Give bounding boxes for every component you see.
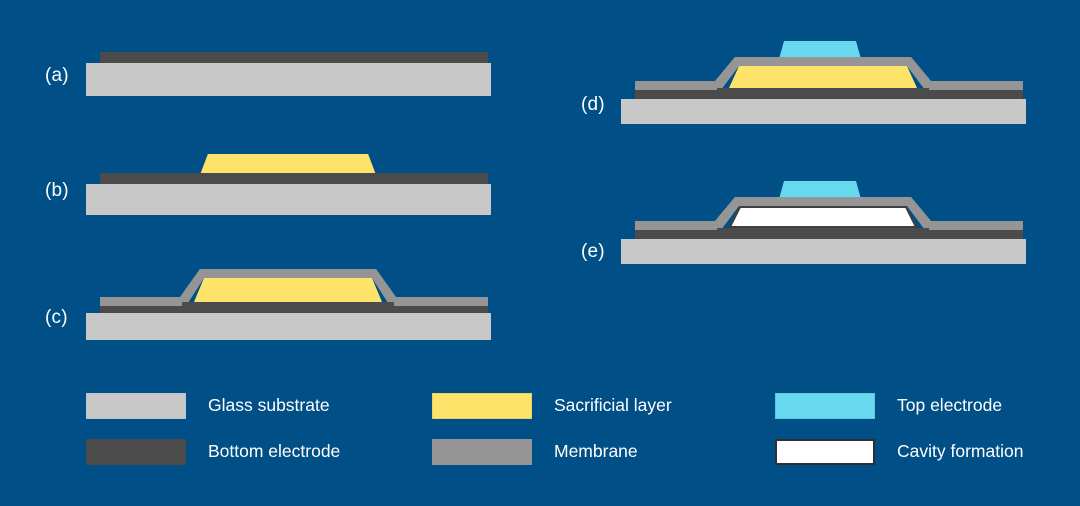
glass-substrate-layer [86, 63, 491, 96]
glass-substrate-layer [86, 184, 491, 215]
sacrificial-layer-visible [201, 154, 375, 173]
membrane-flange-left [635, 81, 717, 90]
legend-item-bottom-electrode: Bottom electrode [86, 437, 340, 467]
membrane-flange-right [929, 81, 1023, 90]
panel-label-b: (b) [45, 181, 69, 200]
panel-e [575, 172, 1045, 264]
top-electrode-trapezoid [779, 41, 861, 59]
legend-item-membrane: Membrane [432, 437, 638, 467]
panel-label-c: (c) [45, 308, 68, 327]
panel-d-cross-section [575, 32, 1045, 124]
legend: Glass substrate Bottom electrode Sacrifi… [0, 382, 1080, 478]
sacrificial-layer-trapezoid [194, 278, 382, 302]
legend-column-3: Top electrode Cavity formation [775, 382, 1080, 478]
panel-b-cross-section [40, 140, 510, 215]
membrane-flange-left [100, 297, 182, 306]
legend-swatch-glass-substrate [86, 393, 186, 419]
panel-a-cross-section [40, 40, 510, 100]
membrane-flange-right [929, 221, 1023, 230]
membrane-flange-left [635, 221, 717, 230]
legend-swatch-bottom-electrode [86, 439, 186, 465]
legend-swatch-sacrificial-layer [432, 393, 532, 419]
membrane-top-plateau [200, 269, 376, 278]
membrane-flange-right [394, 297, 488, 306]
legend-label-cavity-formation: Cavity formation [897, 443, 1023, 461]
panel-label-d: (d) [581, 95, 605, 114]
legend-item-top-electrode: Top electrode [775, 391, 1002, 421]
panel-c [40, 255, 510, 340]
membrane-top-plateau [735, 197, 911, 206]
glass-substrate-layer [86, 313, 491, 340]
legend-label-bottom-electrode: Bottom electrode [208, 443, 340, 461]
legend-swatch-membrane [432, 439, 532, 465]
bottom-electrode-layer [100, 173, 488, 184]
legend-item-cavity-formation: Cavity formation [775, 437, 1023, 467]
sacrificial-layer-trapezoid [729, 66, 917, 88]
cavity-formation-void [730, 207, 916, 227]
panel-label-e: (e) [581, 242, 605, 261]
panel-label-a: (a) [45, 66, 69, 85]
glass-substrate-layer [621, 239, 1026, 264]
glass-substrate-layer [621, 99, 1026, 124]
legend-column-1: Glass substrate Bottom electrode [86, 382, 416, 478]
legend-item-glass-substrate: Glass substrate [86, 391, 330, 421]
membrane-top-plateau [735, 57, 911, 66]
process-flow-figure: (a) (b) (c) [0, 0, 1080, 506]
panel-a [40, 40, 510, 100]
legend-label-sacrificial-layer: Sacrificial layer [554, 397, 672, 415]
legend-swatch-cavity-formation [775, 439, 875, 465]
legend-item-sacrificial-layer: Sacrificial layer [432, 391, 672, 421]
legend-column-2: Sacrificial layer Membrane [432, 382, 762, 478]
bottom-electrode-layer [100, 52, 488, 63]
legend-swatch-top-electrode [775, 393, 875, 419]
panel-e-cross-section [575, 172, 1045, 264]
legend-label-glass-substrate: Glass substrate [208, 397, 330, 415]
panel-d [575, 32, 1045, 124]
legend-label-top-electrode: Top electrode [897, 397, 1002, 415]
top-electrode-trapezoid [779, 181, 861, 199]
legend-label-membrane: Membrane [554, 443, 638, 461]
panel-c-cross-section [40, 255, 510, 340]
panel-b [40, 140, 510, 215]
